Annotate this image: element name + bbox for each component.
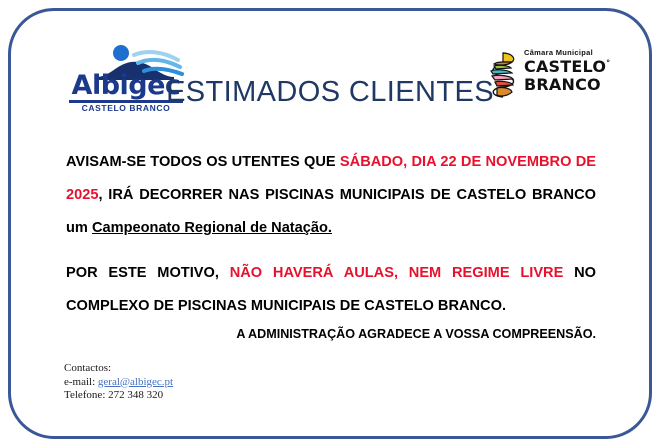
contacts-email-line: e-mail: geral@albigec.pt xyxy=(64,376,173,390)
contacts-block: Contactos: e-mail: geral@albigec.pt Tele… xyxy=(64,362,173,403)
p2-highlight-closure: NÃO HAVERÁ AULAS, NEM REGIME LIVRE xyxy=(230,265,564,281)
contacts-phone: Telefone: 272 348 320 xyxy=(64,389,173,403)
notice-body: AVISAM-SE TODOS OS UTENTES QUE SÁBADO, D… xyxy=(66,146,596,323)
email-link[interactable]: geral@albigec.pt xyxy=(98,376,173,388)
email-label: e-mail: xyxy=(64,376,98,388)
notice-poster: Albigec CASTELO BRANCO xyxy=(0,0,660,447)
administration-note: A ADMINISTRAÇÃO AGRADECE A VOSSA COMPREE… xyxy=(66,327,596,341)
p1-segment-1: AVISAM-SE TODOS OS UTENTES QUE xyxy=(66,154,340,170)
camara-logo-line1: CASTELO° xyxy=(524,59,610,75)
page-title: ESTIMADOS CLIENTES xyxy=(0,76,660,109)
camara-logo-degree: ° xyxy=(606,59,610,68)
p2-segment-1: POR ESTE MOTIVO, xyxy=(66,265,230,281)
camara-logo-castelo: CASTELO xyxy=(524,57,606,76)
paragraph-1: AVISAM-SE TODOS OS UTENTES QUE SÁBADO, D… xyxy=(66,146,596,245)
paragraph-2: POR ESTE MOTIVO, NÃO HAVERÁ AULAS, NEM R… xyxy=(66,257,596,323)
p1-event-name: Campeonato Regional de Natação. xyxy=(92,220,332,236)
contacts-heading: Contactos: xyxy=(64,362,173,376)
camara-municipal-label: Câmara Municipal xyxy=(524,48,593,57)
